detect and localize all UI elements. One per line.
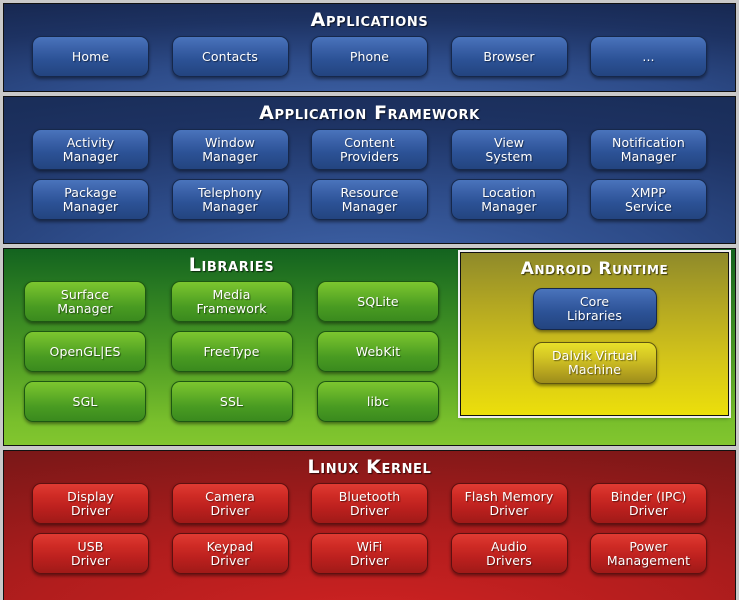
framework-row-2: PackageManager TelephonyManager Resource… [4, 179, 735, 220]
framework-package-manager[interactable]: PackageManager [32, 179, 149, 220]
kernel-flash-memory-driver[interactable]: Flash MemoryDriver [451, 483, 568, 524]
layer-linux-kernel: Linux Kernel DisplayDriver CameraDriver … [3, 450, 736, 600]
framework-notification-manager[interactable]: NotificationManager [590, 129, 707, 170]
app-phone-label: Phone [347, 50, 392, 64]
kernel-power-management-label: PowerManagement [604, 540, 693, 568]
library-freetype[interactable]: FreeType [171, 331, 293, 372]
kernel-bluetooth-driver-label: BluetoothDriver [336, 490, 404, 518]
framework-telephony-manager[interactable]: TelephonyManager [172, 179, 289, 220]
applications-row-1: Home Contacts Phone Browser ... [4, 36, 735, 77]
kernel-flash-memory-driver-label: Flash MemoryDriver [462, 490, 557, 518]
library-freetype-label: FreeType [200, 345, 262, 359]
layer-applications: Applications Home Contacts Phone Browser… [3, 3, 736, 92]
libraries-row-2: OpenGL|ES FreeType WebKit [4, 331, 459, 372]
library-surface-manager[interactable]: SurfaceManager [24, 281, 146, 322]
framework-row-1: ActivityManager WindowManager ContentPro… [4, 129, 735, 170]
library-sgl-label: SGL [70, 395, 101, 409]
kernel-keypad-driver[interactable]: KeypadDriver [172, 533, 289, 574]
android-architecture-diagram: Applications Home Contacts Phone Browser… [0, 0, 739, 600]
library-webkit[interactable]: WebKit [317, 331, 439, 372]
android-runtime-cells: CoreLibraries Dalvik VirtualMachine [461, 288, 728, 384]
framework-activity-manager[interactable]: ActivityManager [32, 129, 149, 170]
library-media-framework[interactable]: MediaFramework [171, 281, 293, 322]
runtime-dalvik-virtual-machine-label: Dalvik VirtualMachine [549, 349, 640, 377]
layer-application-framework: Application Framework ActivityManager Wi… [3, 96, 736, 244]
library-ssl-label: SSL [217, 395, 246, 409]
framework-window-manager[interactable]: WindowManager [172, 129, 289, 170]
android-runtime-column: Android Runtime CoreLibraries Dalvik Vir… [459, 249, 735, 416]
layer-libraries: Libraries SurfaceManager MediaFramework … [3, 248, 736, 446]
library-opengl-es-label: OpenGL|ES [47, 345, 124, 359]
library-libc[interactable]: libc [317, 381, 439, 422]
app-more-label: ... [639, 50, 657, 64]
kernel-usb-driver-label: USBDriver [68, 540, 113, 568]
kernel-usb-driver[interactable]: USBDriver [32, 533, 149, 574]
kernel-row-1: DisplayDriver CameraDriver BluetoothDriv… [4, 483, 735, 524]
library-libc-label: libc [364, 395, 392, 409]
library-ssl[interactable]: SSL [171, 381, 293, 422]
layer-title-application-framework: Application Framework [4, 97, 735, 129]
kernel-keypad-driver-label: KeypadDriver [204, 540, 257, 568]
runtime-core-libraries[interactable]: CoreLibraries [533, 288, 657, 330]
library-opengl-es[interactable]: OpenGL|ES [24, 331, 146, 372]
framework-location-manager-label: LocationManager [478, 186, 540, 214]
app-more[interactable]: ... [590, 36, 707, 77]
kernel-bluetooth-driver[interactable]: BluetoothDriver [311, 483, 428, 524]
kernel-audio-drivers[interactable]: AudioDrivers [451, 533, 568, 574]
runtime-dalvik-virtual-machine[interactable]: Dalvik VirtualMachine [533, 342, 657, 384]
kernel-wifi-driver[interactable]: WiFiDriver [311, 533, 428, 574]
library-sqlite-label: SQLite [354, 295, 401, 309]
kernel-power-management[interactable]: PowerManagement [590, 533, 707, 574]
app-phone[interactable]: Phone [311, 36, 428, 77]
app-home-label: Home [69, 50, 112, 64]
framework-activity-manager-label: ActivityManager [60, 136, 122, 164]
app-contacts[interactable]: Contacts [172, 36, 289, 77]
app-browser-label: Browser [480, 50, 537, 64]
libraries-column: Libraries SurfaceManager MediaFramework … [4, 249, 459, 431]
library-surface-manager-label: SurfaceManager [54, 288, 116, 316]
framework-xmpp-service-label: XMPPService [622, 186, 675, 214]
library-sqlite[interactable]: SQLite [317, 281, 439, 322]
library-media-framework-label: MediaFramework [193, 288, 269, 316]
framework-resource-manager[interactable]: ResourceManager [311, 179, 428, 220]
layer-title-applications: Applications [4, 4, 735, 36]
framework-resource-manager-label: ResourceManager [337, 186, 401, 214]
app-home[interactable]: Home [32, 36, 149, 77]
kernel-display-driver[interactable]: DisplayDriver [32, 483, 149, 524]
framework-content-providers-label: ContentProviders [337, 136, 402, 164]
kernel-wifi-driver-label: WiFiDriver [347, 540, 392, 568]
layer-title-libraries: Libraries [4, 249, 459, 281]
framework-location-manager[interactable]: LocationManager [451, 179, 568, 220]
app-browser[interactable]: Browser [451, 36, 568, 77]
kernel-binder-ipc-driver-label: Binder (IPC)Driver [608, 490, 690, 518]
layer-title-linux-kernel: Linux Kernel [4, 451, 735, 483]
kernel-camera-driver[interactable]: CameraDriver [172, 483, 289, 524]
library-sgl[interactable]: SGL [24, 381, 146, 422]
libraries-row-3: SGL SSL libc [4, 381, 459, 422]
framework-notification-manager-label: NotificationManager [609, 136, 688, 164]
app-contacts-label: Contacts [199, 50, 261, 64]
kernel-audio-drivers-label: AudioDrivers [483, 540, 535, 568]
framework-package-manager-label: PackageManager [60, 186, 122, 214]
kernel-row-2: USBDriver KeypadDriver WiFiDriver AudioD… [4, 533, 735, 574]
framework-xmpp-service[interactable]: XMPPService [590, 179, 707, 220]
panel-android-runtime: Android Runtime CoreLibraries Dalvik Vir… [460, 252, 729, 416]
kernel-display-driver-label: DisplayDriver [64, 490, 117, 518]
library-webkit-label: WebKit [353, 345, 403, 359]
layer-title-android-runtime: Android Runtime [461, 253, 728, 288]
kernel-binder-ipc-driver[interactable]: Binder (IPC)Driver [590, 483, 707, 524]
framework-view-system[interactable]: ViewSystem [451, 129, 568, 170]
framework-window-manager-label: WindowManager [199, 136, 261, 164]
framework-view-system-label: ViewSystem [482, 136, 535, 164]
runtime-core-libraries-label: CoreLibraries [564, 295, 625, 323]
framework-telephony-manager-label: TelephonyManager [195, 186, 265, 214]
libraries-row-1: SurfaceManager MediaFramework SQLite [4, 281, 459, 322]
framework-content-providers[interactable]: ContentProviders [311, 129, 428, 170]
kernel-camera-driver-label: CameraDriver [202, 490, 258, 518]
